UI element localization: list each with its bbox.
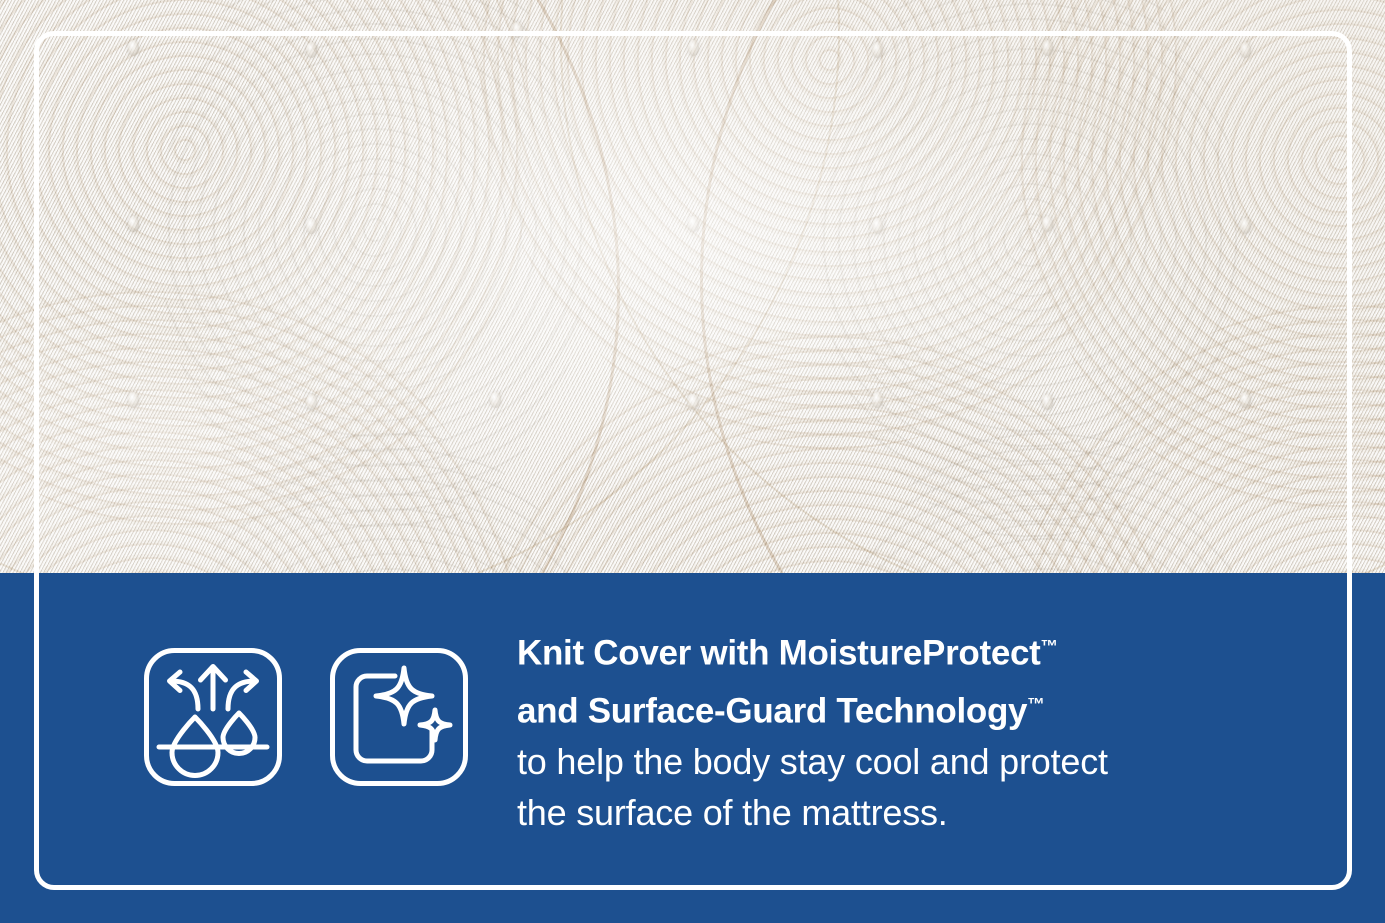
copy-line-3: to help the body stay cool and protect: [517, 736, 1277, 787]
copy-line-2: and Surface-Guard Technology™: [517, 679, 1277, 737]
surface-guard-icon: [329, 647, 469, 787]
fabric-photo: [0, 0, 1385, 575]
feature-copy: Knit Cover with MoistureProtect™ and Sur…: [517, 621, 1277, 838]
copy-line-4: the surface of the mattress.: [517, 787, 1277, 838]
copy-line-2-text: and Surface-Guard Technology: [517, 691, 1027, 730]
promo-card: Knit Cover with MoistureProtect™ and Sur…: [0, 0, 1385, 923]
trademark-symbol: ™: [1027, 694, 1045, 714]
moisture-wicking-icon: [143, 647, 283, 787]
info-panel-content: Knit Cover with MoistureProtect™ and Sur…: [0, 573, 1385, 923]
copy-line-1-text: Knit Cover with MoistureProtect: [517, 634, 1041, 673]
copy-line-1: Knit Cover with MoistureProtect™: [517, 621, 1277, 679]
feature-icons: [143, 647, 469, 787]
trademark-symbol: ™: [1041, 636, 1059, 656]
